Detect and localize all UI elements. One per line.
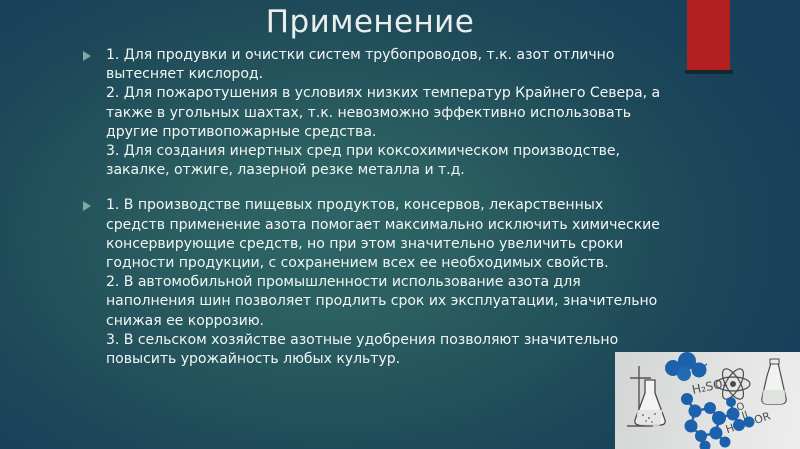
svg-text:OR: OR — [753, 409, 773, 427]
molecule-cluster-icon — [681, 393, 755, 449]
red-accent-rectangle — [687, 0, 730, 70]
bullet-item: 1. Для продувки и очистки систем трубопр… — [82, 46, 662, 180]
triangle-bullet-icon — [83, 201, 91, 211]
presentation-slide: Применение 1. Для продувки и очистки сис… — [0, 0, 800, 449]
chemistry-illustration: H₂SO₄ HC OR O — [615, 352, 800, 449]
triangle-bullet-icon — [83, 51, 91, 61]
red-accent-shadow — [685, 70, 733, 74]
slide-body: 1. Для продувки и очистки систем трубопр… — [82, 46, 662, 385]
bullet-item: 1. В производстве пищевых продуктов, кон… — [82, 196, 662, 369]
bullet-text: 1. Для продувки и очистки систем трубопр… — [106, 46, 662, 180]
bullet-text: 1. В производстве пищевых продуктов, кон… — [106, 196, 662, 369]
bottle-icon — [762, 359, 786, 404]
molecule-blue-top — [665, 352, 707, 381]
slide-title: Применение — [60, 2, 680, 42]
